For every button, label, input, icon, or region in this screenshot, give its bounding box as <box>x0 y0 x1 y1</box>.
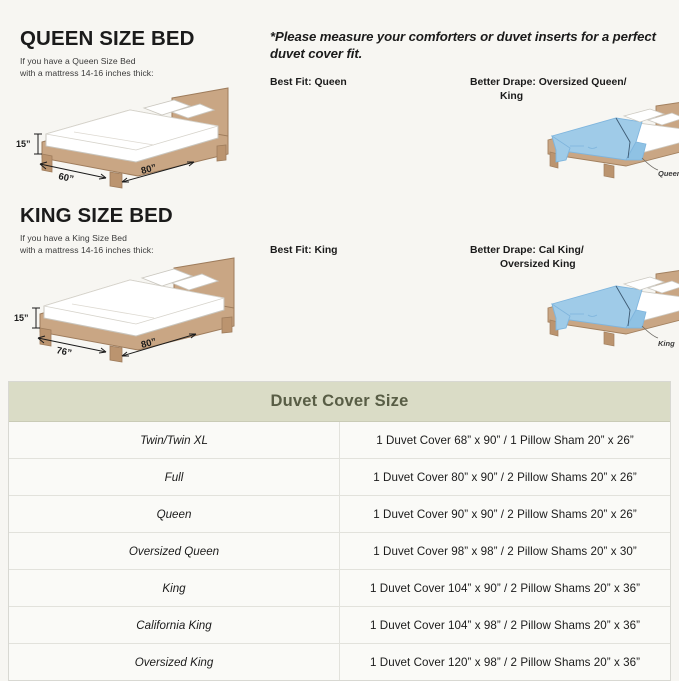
table-cell-description: 1 Duvet Cover 120” x 98” / 2 Pillow Sham… <box>340 644 671 681</box>
left-column: QUEEN SIZE BED If you have a Queen Size … <box>0 0 262 378</box>
queen-block-subtitle-line2: with a mattress 14-16 inches thick: <box>20 67 262 80</box>
table-head: Duvet Cover Size <box>9 382 670 422</box>
table-header-row: Duvet Cover Size <box>9 382 670 422</box>
queen-height-label: 15” <box>16 139 31 149</box>
measure-note-line1: *Please measure your comforters or duvet… <box>270 29 598 44</box>
table-cell-size: Queen <box>9 496 340 533</box>
king-width-label: 76” <box>55 345 73 359</box>
panel-best-fit-king: Best Fit: King <box>270 244 470 258</box>
table-cell-size: Oversized Queen <box>9 533 340 570</box>
king-bed-illustration: 15” 76” 80” <box>14 256 259 368</box>
queen-block-subtitle-line1: If you have a Queen Size Bed <box>20 55 262 68</box>
duvet-cover-size-table-wrapper: Duvet Cover Size Twin/Twin XL1 Duvet Cov… <box>8 381 671 681</box>
table-cell-description: 1 Duvet Cover 80” x 90” / 2 Pillow Shams… <box>340 459 671 496</box>
king-block-title: KING SIZE BED <box>20 205 262 227</box>
table-cell-size: Full <box>9 459 340 496</box>
table-cell-description: 1 Duvet Cover 104” x 98” / 2 Pillow Sham… <box>340 607 671 644</box>
callout-king: King <box>658 339 675 348</box>
right-column: *Please measure your comforters or duvet… <box>262 0 679 378</box>
table-cell-size: California King <box>9 607 340 644</box>
panel-better-drape-oq-title: Better Drape: Oversized Queen/ King <box>470 76 670 104</box>
panel-better-drape-oq-title-line1: Better Drape: Oversized Queen/ <box>470 77 627 88</box>
callout-queen: Queen <box>658 169 679 178</box>
table-cell-description: 1 Duvet Cover 90” x 90” / 2 Pillow Shams… <box>340 496 671 533</box>
table-row: Oversized King1 Duvet Cover 120” x 98” /… <box>9 644 670 681</box>
table-row: Twin/Twin XL1 Duvet Cover 68” x 90” / 1 … <box>9 422 670 459</box>
table-row: King1 Duvet Cover 104” x 90” / 2 Pillow … <box>9 570 670 607</box>
table-cell-size: King <box>9 570 340 607</box>
best-fit-queen-illustration: Queen <box>530 98 679 188</box>
king-size-block: KING SIZE BED If you have a King Size Be… <box>20 205 262 257</box>
duvet-cover-size-table: Duvet Cover Size Twin/Twin XL1 Duvet Cov… <box>9 382 670 680</box>
measure-note: *Please measure your comforters or duvet… <box>270 28 674 63</box>
table-row: Full1 Duvet Cover 80” x 90” / 2 Pillow S… <box>9 459 670 496</box>
table-header-title: Duvet Cover Size <box>9 382 670 422</box>
panel-better-drape-ck-title-line1: Better Drape: Cal King/ <box>470 245 584 256</box>
queen-width-label: 60” <box>57 171 75 185</box>
table-cell-description: 1 Duvet Cover 98” x 98” / 2 Pillow Shams… <box>340 533 671 570</box>
table-cell-description: 1 Duvet Cover 104” x 90” / 2 Pillow Sham… <box>340 570 671 607</box>
table-row: Oversized Queen1 Duvet Cover 98” x 98” /… <box>9 533 670 570</box>
queen-block-title: QUEEN SIZE BED <box>20 28 262 50</box>
table-cell-size: Oversized King <box>9 644 340 681</box>
panel-better-drape-cal-king-oversized-king: Better Drape: Cal King/ Oversized King <box>470 244 670 272</box>
table-cell-size: Twin/Twin XL <box>9 422 340 459</box>
table-cell-description: 1 Duvet Cover 68” x 90” / 1 Pillow Sham … <box>340 422 671 459</box>
best-fit-king-illustration: King <box>530 266 679 358</box>
panel-better-drape-ck-title: Better Drape: Cal King/ Oversized King <box>470 244 670 272</box>
king-block-subtitle-line1: If you have a King Size Bed <box>20 232 262 245</box>
king-height-label: 15” <box>14 313 29 323</box>
panel-better-drape-oversized-queen-king: Better Drape: Oversized Queen/ King <box>470 76 670 104</box>
queen-size-block: QUEEN SIZE BED If you have a Queen Size … <box>20 28 262 80</box>
infographic-page: QUEEN SIZE BED If you have a Queen Size … <box>0 0 679 679</box>
panel-best-fit-king-title: Best Fit: King <box>270 244 470 258</box>
panel-best-fit-queen: Best Fit: Queen <box>270 76 470 90</box>
panel-best-fit-queen-title: Best Fit: Queen <box>270 76 470 90</box>
panel-better-drape-oq-title-line2: King <box>470 90 670 104</box>
table-body: Twin/Twin XL1 Duvet Cover 68” x 90” / 1 … <box>9 422 670 681</box>
queen-bed-illustration: 15” 60” 80” <box>14 84 254 194</box>
panel-better-drape-ck-title-line2: Oversized King <box>470 258 670 272</box>
table-row: Queen1 Duvet Cover 90” x 90” / 2 Pillow … <box>9 496 670 533</box>
table-row: California King1 Duvet Cover 104” x 98” … <box>9 607 670 644</box>
